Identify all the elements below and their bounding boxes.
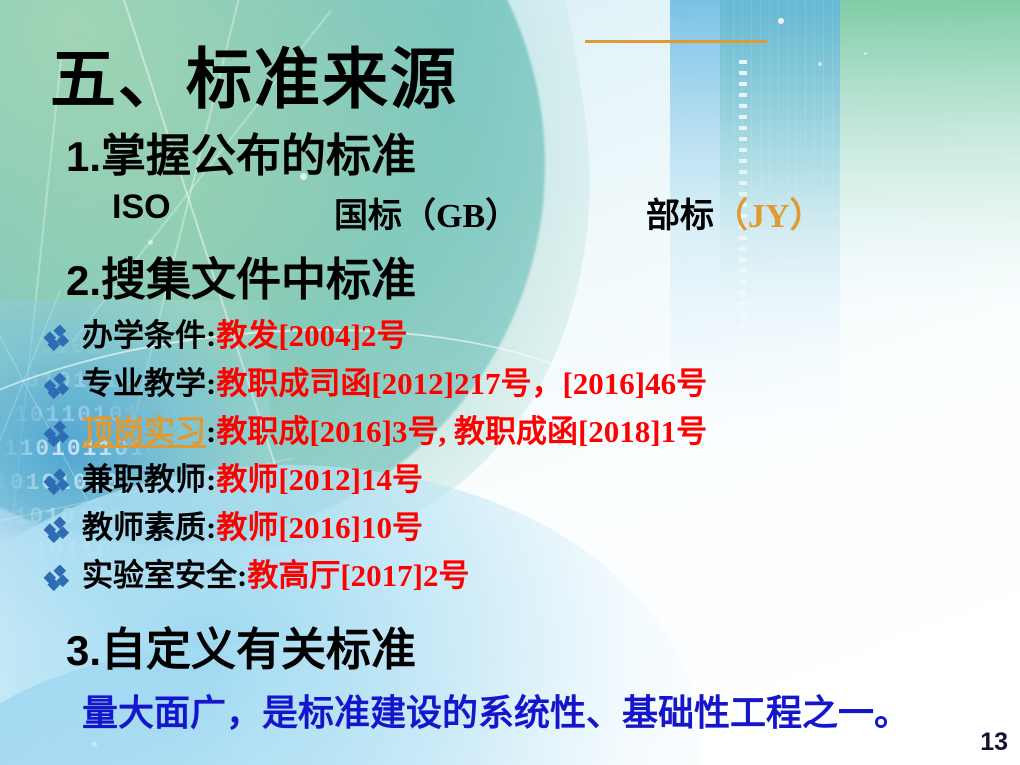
list-item-text: 兼职教师:教师[2012]14号 <box>82 458 423 502</box>
section-3-heading-text: 自定义有关标准 <box>101 625 416 675</box>
list-item: 教师素质:教师[2016]10号 <box>44 506 984 554</box>
diamond-cluster-bullet-icon <box>44 421 70 447</box>
list-item-separator: : <box>206 366 216 401</box>
section-3-number: 3. <box>66 627 101 674</box>
standard-jy: 部标（JY） <box>646 188 824 237</box>
list-item-text: 教师素质:教师[2016]10号 <box>82 506 423 550</box>
list-item-text: 办学条件:教发[2004]2号 <box>82 314 407 358</box>
list-item-separator: : <box>206 462 216 497</box>
section-2-heading: 2.搜集文件中标准 <box>66 243 416 308</box>
list-item-separator: : <box>206 318 216 353</box>
list-item-label: 专业教学 <box>82 366 206 401</box>
list-item-text: 顶岗实习:教职成[2016]3号, 教职成函[2018]1号 <box>82 410 707 454</box>
list-item-separator: : <box>206 414 216 449</box>
list-item-text: 实验室安全:教高厅[2017]2号 <box>82 554 469 598</box>
list-item-label: 教师素质 <box>82 510 206 545</box>
list-item: 顶岗实习:教职成[2016]3号, 教职成函[2018]1号 <box>44 410 984 458</box>
section-3-heading: 3.自定义有关标准 <box>66 613 416 678</box>
list-item: 实验室安全:教高厅[2017]2号 <box>44 554 984 602</box>
standard-iso: ISO <box>112 188 171 227</box>
list-item-value: 教发[2004]2号 <box>216 318 407 353</box>
list-item-label: 实验室安全 <box>82 558 237 593</box>
slide-title: 五、标准来源 <box>50 26 458 122</box>
slide-content: 五、标准来源 1.掌握公布的标准 ISO 国标（GB） 部标（JY） 2.搜集文… <box>0 0 1020 765</box>
list-item: 办学条件:教发[2004]2号 <box>44 314 984 362</box>
list-item-label-link[interactable]: 顶岗实习 <box>82 414 206 449</box>
list-item-separator: : <box>206 510 216 545</box>
closing-statement: 量大面广，是标准建设的系统性、基础性工程之一。 <box>82 684 910 736</box>
section-2-number: 2. <box>66 257 101 304</box>
page-number: 13 <box>980 728 1008 757</box>
list-item-value: 教师[2016]10号 <box>216 510 423 545</box>
slide: 10101010110 1010101010101 0101101010 101… <box>0 0 1020 765</box>
list-item: 专业教学:教职成司函[2012]217号，[2016]46号 <box>44 362 984 410</box>
standard-gb: 国标（GB） <box>334 188 519 237</box>
list-item-label: 兼职教师 <box>82 462 206 497</box>
section-1-heading-text: 掌握公布的标准 <box>101 131 416 181</box>
section-1-number: 1. <box>66 133 101 180</box>
diamond-cluster-bullet-icon <box>44 325 70 351</box>
diamond-cluster-bullet-icon <box>44 565 70 591</box>
list-item-text: 专业教学:教职成司函[2012]217号，[2016]46号 <box>82 362 707 406</box>
document-standards-list: 办学条件:教发[2004]2号 专业教学:教职成司函[2012]217号，[20… <box>44 314 984 602</box>
list-item-value: 教高厅[2017]2号 <box>247 558 469 593</box>
list-item-value: 教职成[2016]3号, 教职成函[2018]1号 <box>216 414 707 449</box>
list-item-value: 教师[2012]14号 <box>216 462 423 497</box>
section-2-heading-text: 搜集文件中标准 <box>101 255 416 305</box>
diamond-cluster-bullet-icon <box>44 517 70 543</box>
list-item: 兼职教师:教师[2012]14号 <box>44 458 984 506</box>
list-item-value: 教职成司函[2012]217号，[2016]46号 <box>216 366 707 401</box>
standard-jy-underline <box>585 40 767 43</box>
standard-jy-link[interactable]: （JY） <box>714 198 824 235</box>
list-item-separator: : <box>237 558 247 593</box>
diamond-cluster-bullet-icon <box>44 469 70 495</box>
diamond-cluster-bullet-icon <box>44 373 70 399</box>
list-item-label: 办学条件 <box>82 318 206 353</box>
standards-row: ISO 国标（GB） 部标（JY） <box>112 188 942 232</box>
section-1-heading: 1.掌握公布的标准 <box>66 119 416 184</box>
standard-jy-prefix: 部标 <box>646 198 714 235</box>
